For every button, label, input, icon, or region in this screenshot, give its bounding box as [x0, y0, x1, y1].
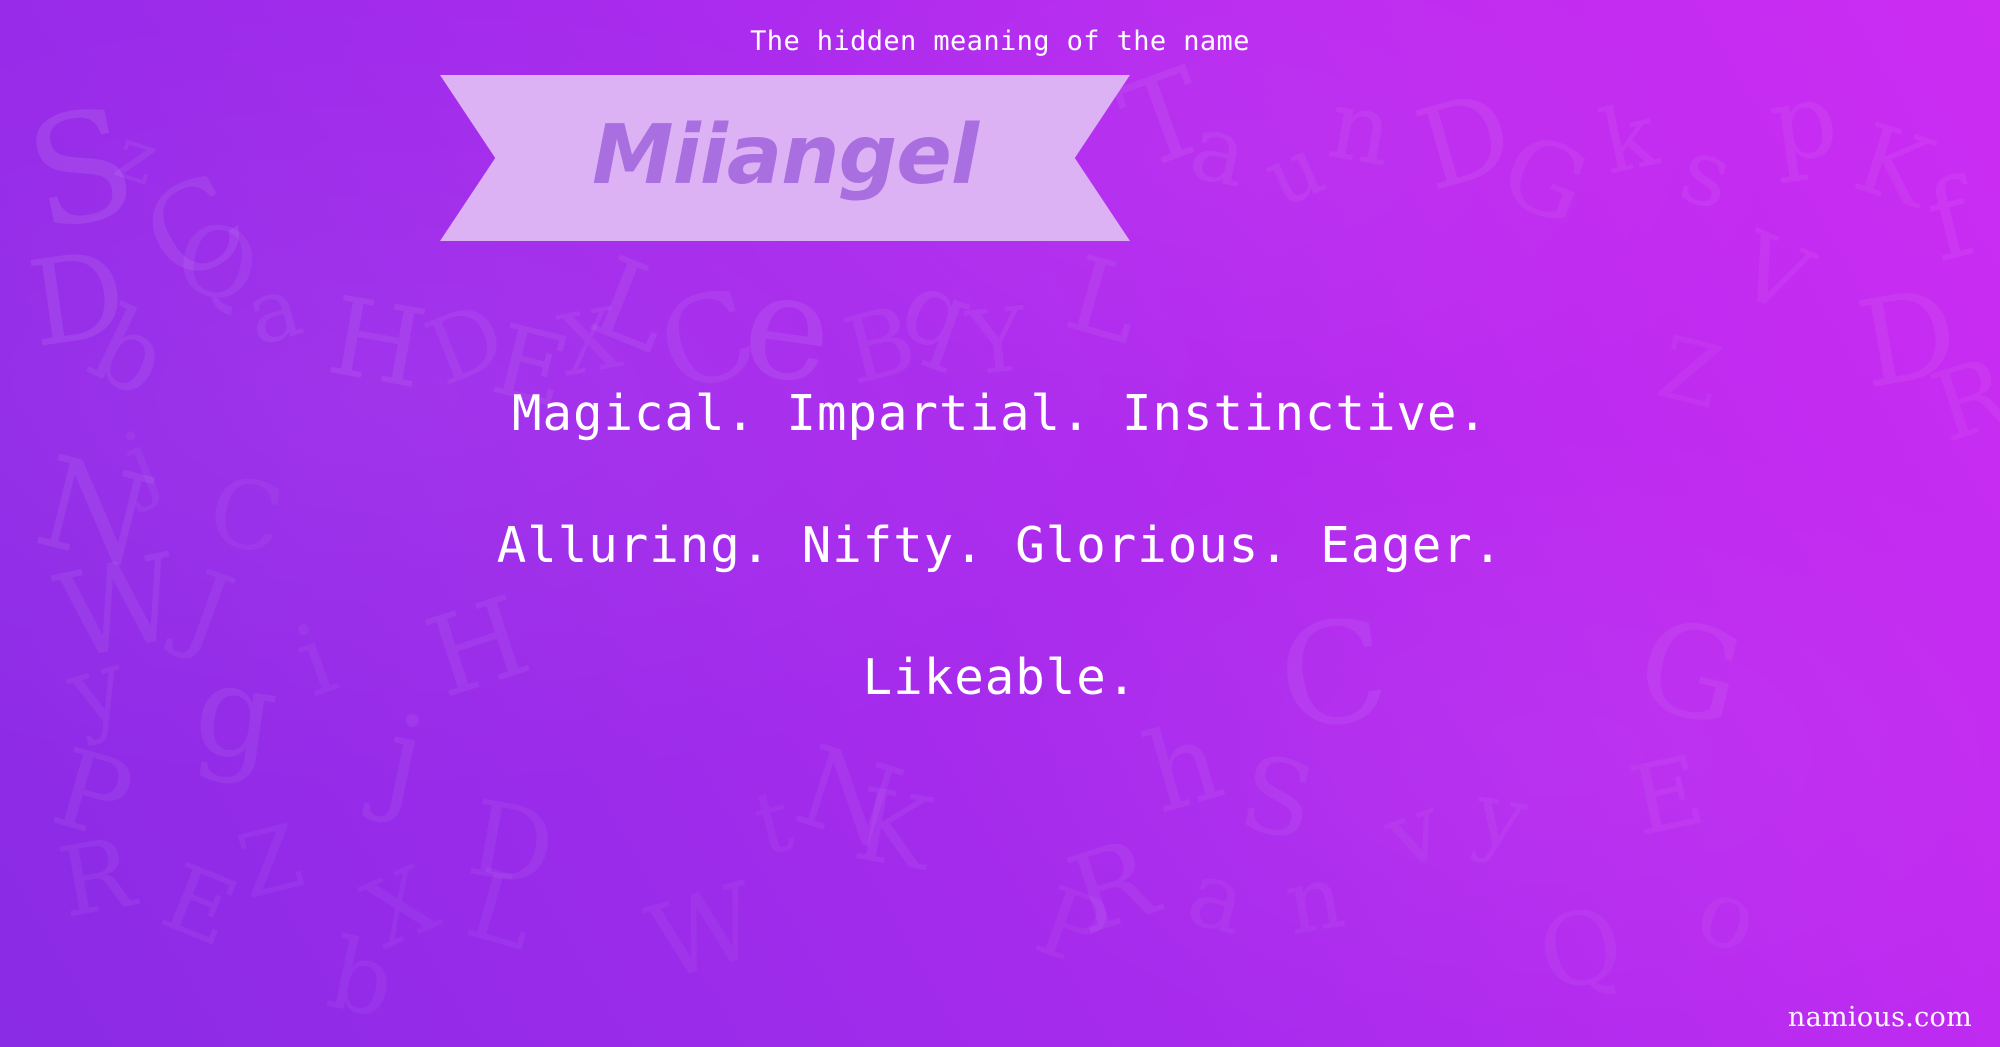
name-meaning-card: SzCQDbaHDEXLCeBqYLTaunDGkspKfVDZRNjCWJyg… — [0, 0, 2000, 1047]
page-title: The hidden meaning of the name — [0, 26, 2000, 57]
meaning-line: Magical. Impartial. Instinctive. — [0, 348, 2000, 480]
site-watermark: namious.com — [1788, 1002, 1972, 1033]
meaning-line: Alluring. Nifty. Glorious. Eager. — [0, 480, 2000, 612]
banner-name-text: Miiangel — [592, 115, 978, 197]
meaning-line: Likeable. — [0, 612, 2000, 744]
name-banner: Miiangel — [440, 75, 1130, 241]
meaning-text-block: Magical. Impartial. Instinctive.Alluring… — [0, 348, 2000, 744]
